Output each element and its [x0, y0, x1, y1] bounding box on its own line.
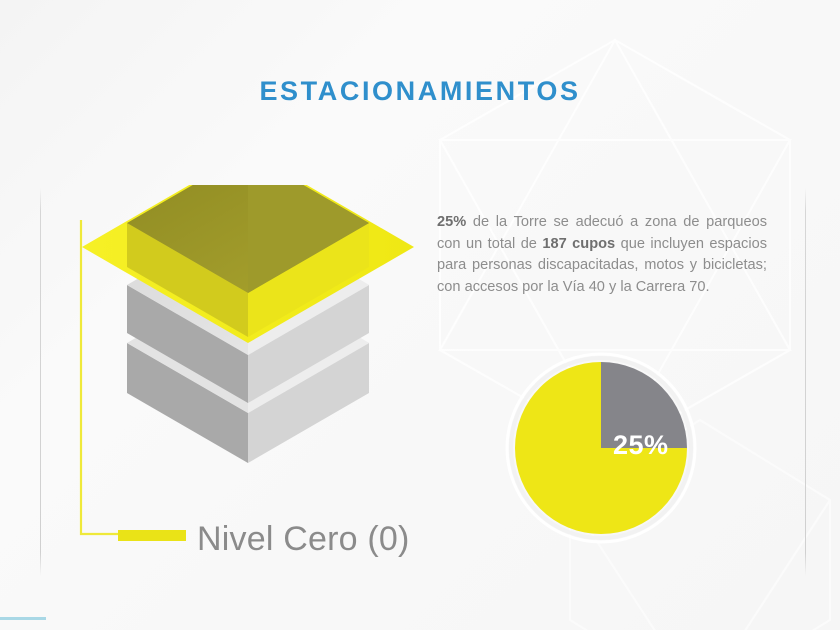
left-vertical-divider [40, 188, 41, 576]
paragraph-lead-bold: 25% [437, 214, 466, 230]
legend-label: Nivel Cero (0) [197, 520, 410, 559]
page-title: ESTACIONAMIENTOS [0, 76, 840, 107]
legend-color-swatch [118, 530, 186, 541]
infographic-slide: ESTACIONAMIENTOS 25% de la Torre se adec… [0, 0, 840, 630]
pie-percentage-label: 25% [613, 430, 669, 461]
parking-pie-chart: 25% [505, 352, 697, 544]
paragraph-mid-bold: 187 cupos [542, 236, 615, 252]
bottom-accent-bar [0, 617, 46, 620]
description-paragraph: 25% de la Torre se adecuó a zona de parq… [437, 212, 767, 298]
layered-floors-diagram-icon [70, 185, 430, 485]
right-vertical-divider [805, 188, 806, 576]
